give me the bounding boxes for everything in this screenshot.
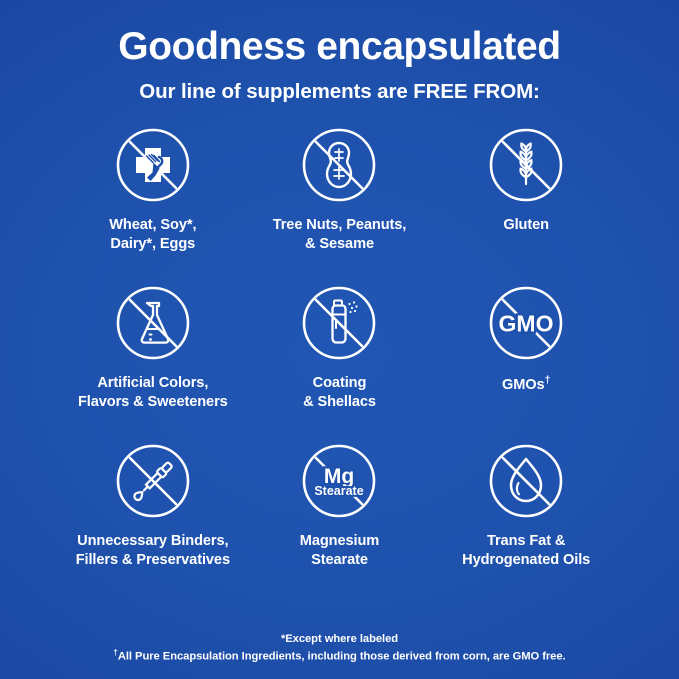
no-artificial-colors-icon xyxy=(114,284,192,362)
grid-item-gmos: GMO GMOs† xyxy=(433,284,620,442)
grid-item-label-text: GMOs xyxy=(502,377,545,393)
grid-item-label: Tree Nuts, Peanuts, & Sesame xyxy=(273,216,407,253)
grid-item-label: Gluten xyxy=(503,216,549,235)
grid-item-label-superscript: † xyxy=(545,374,551,386)
grid-item-tree-nuts-peanuts-sesame: Tree Nuts, Peanuts, & Sesame xyxy=(246,126,433,284)
grid-item-binders-fillers: Unnecessary Binders, Fillers & Preservat… xyxy=(60,442,247,600)
grid-item-label: GMOs† xyxy=(502,374,550,395)
grid-item-label: Unnecessary Binders, Fillers & Preservat… xyxy=(76,532,230,569)
stearate-badge-subtext: Stearate xyxy=(315,484,364,498)
no-tree-nuts-peanuts-sesame-icon xyxy=(300,126,378,204)
grid-item-label: Magnesium Stearate xyxy=(300,532,379,569)
grid-item-gluten: Gluten xyxy=(433,126,620,284)
footnote-2-text: All Pure Encapsulation Ingredients, incl… xyxy=(118,651,566,663)
footnote-1-text: Except where labeled xyxy=(285,633,398,645)
footnote-line-2: †All Pure Encapsulation Ingredients, inc… xyxy=(0,647,679,666)
footnote-line-1: *Except where labeled xyxy=(0,631,679,648)
free-from-grid: Wheat, Soy*, Dairy*, Eggs xyxy=(60,126,620,600)
no-magnesium-stearate-icon: Mg Stearate xyxy=(300,442,378,520)
grid-item-label: Coating & Shellacs xyxy=(303,374,376,411)
grid-item-coating-shellacs: Coating & Shellacs xyxy=(246,284,433,442)
no-wheat-soy-dairy-eggs-icon xyxy=(114,126,192,204)
footnotes: *Except where labeled †All Pure Encapsul… xyxy=(0,631,679,666)
grid-item-label: Artificial Colors, Flavors & Sweeteners xyxy=(78,374,228,411)
grid-item-artificial-colors: Artificial Colors, Flavors & Sweeteners xyxy=(60,284,247,442)
no-gluten-icon xyxy=(487,126,565,204)
no-gmo-icon: GMO xyxy=(487,284,565,362)
no-trans-fat-icon xyxy=(487,442,565,520)
poster-root: Goodness encapsulated Our line of supple… xyxy=(0,0,679,679)
header: Goodness encapsulated Our line of supple… xyxy=(0,26,679,104)
grid-item-wheat-soy-dairy-eggs: Wheat, Soy*, Dairy*, Eggs xyxy=(60,126,247,284)
grid-item-label: Trans Fat & Hydrogenated Oils xyxy=(462,532,590,569)
no-binders-fillers-icon xyxy=(114,442,192,520)
no-coating-shellacs-icon xyxy=(300,284,378,362)
grid-item-trans-fat: Trans Fat & Hydrogenated Oils xyxy=(433,442,620,600)
grid-item-magnesium-stearate: Mg Stearate Magnesium Stearate xyxy=(246,442,433,600)
page-title: Goodness encapsulated xyxy=(0,26,679,69)
grid-item-label: Wheat, Soy*, Dairy*, Eggs xyxy=(109,216,196,253)
gmo-badge-text: GMO xyxy=(499,310,554,336)
page-subtitle: Our line of supplements are FREE FROM: xyxy=(0,80,679,104)
